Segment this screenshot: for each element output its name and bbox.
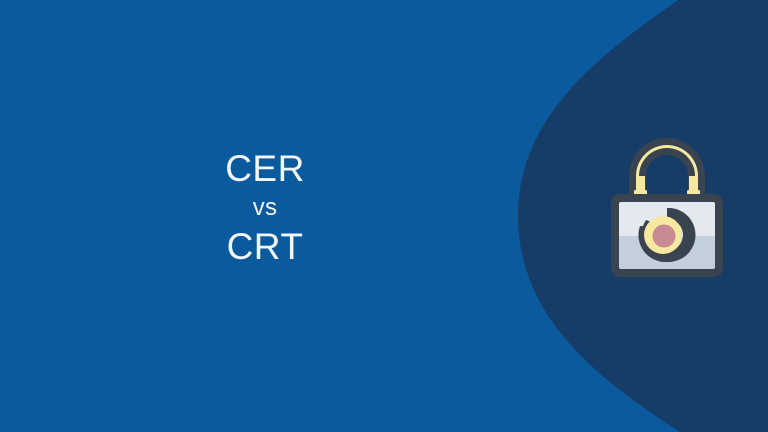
headline-text-block: CER vs CRT	[0, 150, 530, 265]
headline-line-vs: vs	[0, 196, 530, 220]
headline-line-crt: CRT	[0, 228, 530, 265]
headline-line-cer: CER	[0, 150, 530, 187]
hero-banner: CER vs CRT	[0, 0, 768, 432]
padlock-icon	[606, 134, 728, 282]
